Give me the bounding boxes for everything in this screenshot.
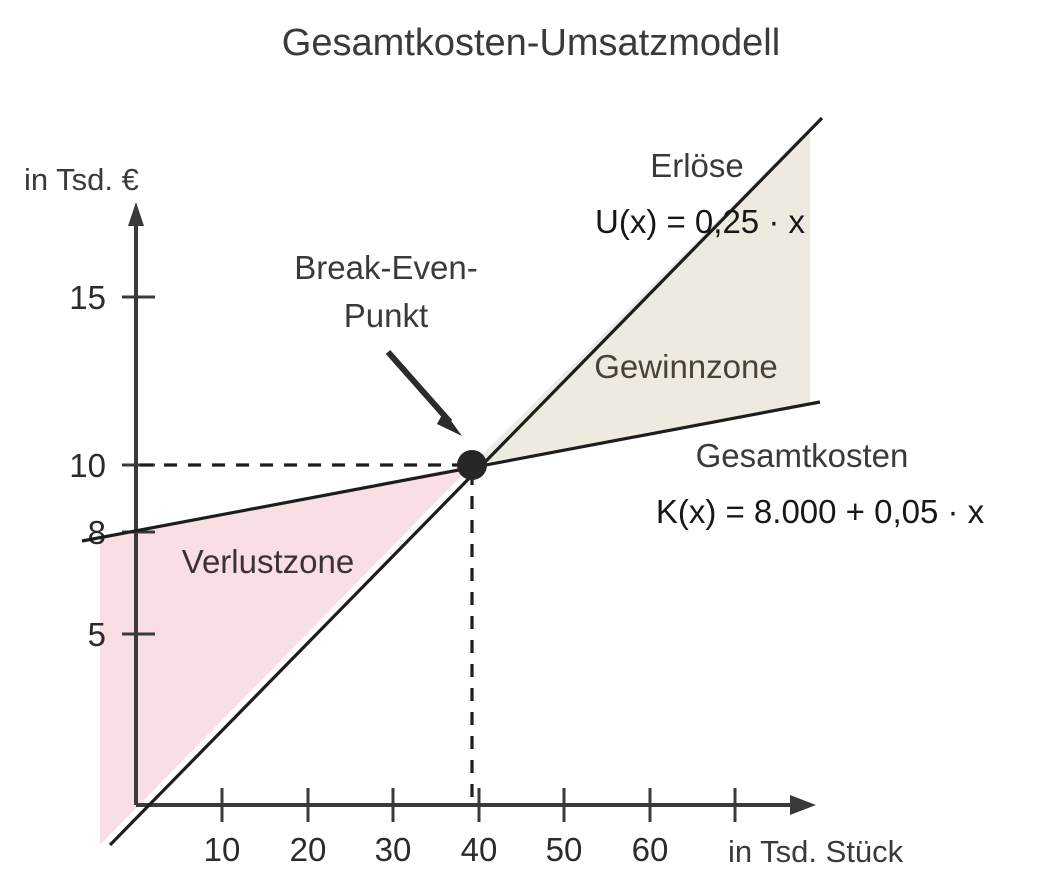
break-even-label-line1: Break-Even- xyxy=(294,249,477,286)
cost-formula-label: K(x) = 8.000 + 0,05 · x xyxy=(656,493,985,530)
chart-title: Gesamtkosten-Umsatzmodell xyxy=(282,22,780,64)
x-tick-label-50: 50 xyxy=(546,831,583,868)
y-axis-arrowhead xyxy=(128,202,144,226)
break-even-label-line2: Punkt xyxy=(344,297,428,334)
x-tick-label-60: 60 xyxy=(632,831,669,868)
x-tick-label-10: 10 xyxy=(204,831,241,868)
y-tick-label-5: 5 xyxy=(88,616,106,653)
loss-zone-fill-extra xyxy=(82,465,472,845)
chart-canvas: Gesamtkosten-Umsatzmodell in Tsd. € 15 1… xyxy=(0,0,1062,884)
break-even-point-marker[interactable] xyxy=(457,450,487,480)
y-axis-label: in Tsd. € xyxy=(24,162,139,197)
break-even-callout-arrow xyxy=(388,352,450,422)
revenue-series-label: Erlöse xyxy=(650,147,744,184)
x-tick-label-40: 40 xyxy=(461,831,498,868)
y-tick-label-15: 15 xyxy=(69,279,106,316)
x-tick-label-30: 30 xyxy=(375,831,412,868)
y-tick-label-8: 8 xyxy=(88,514,106,551)
x-axis-arrowhead xyxy=(790,795,816,815)
cost-series-label: Gesamtkosten xyxy=(696,437,909,474)
loss-zone-label: Verlustzone xyxy=(182,543,354,580)
profit-zone-label: Gewinnzone xyxy=(594,348,777,385)
cost-revenue-chart: Gesamtkosten-Umsatzmodell in Tsd. € 15 1… xyxy=(0,0,1062,884)
x-tick-group: 10 20 30 40 50 60 xyxy=(204,788,735,868)
x-tick-label-20: 20 xyxy=(290,831,327,868)
y-tick-label-10: 10 xyxy=(69,447,106,484)
revenue-formula-label: U(x) = 0,25 · x xyxy=(595,203,805,240)
x-axis-label: in Tsd. Stück xyxy=(728,834,904,869)
